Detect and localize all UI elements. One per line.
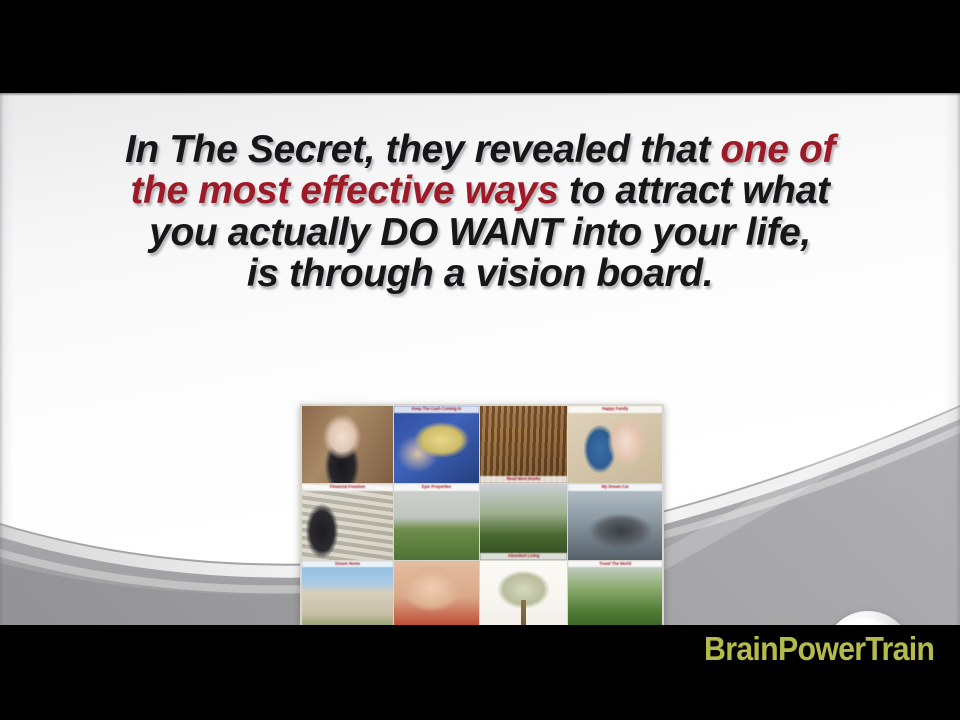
tile-dream-house: Dream Home xyxy=(302,561,393,626)
money-hand-artwork xyxy=(394,406,479,483)
video-stage[interactable]: In The Secret, they revealed that one of… xyxy=(0,93,960,625)
letterbox-top xyxy=(0,0,960,93)
headline-line-3: you actually DO WANT into your life, xyxy=(0,212,960,253)
headline-line-2: the most effective ways to attract what xyxy=(0,170,960,211)
car-artwork xyxy=(568,484,662,560)
house-artwork xyxy=(302,561,393,626)
tile-green-landscape: Abundant Living xyxy=(480,484,567,560)
tile-luxury-car: My Dream Car xyxy=(568,484,662,560)
tile-public-speaker xyxy=(302,406,393,483)
tile-caption: Abundant Living xyxy=(480,553,567,560)
tile-caption: Epic Properties xyxy=(394,484,479,491)
tile-crowd-with-cash: Financial Freedom xyxy=(302,484,393,560)
headline-line-1-highlight: one of xyxy=(720,128,835,171)
headline-text: In The Secret, they revealed that one of… xyxy=(0,129,960,294)
tile-caption: Read More Books xyxy=(480,476,567,483)
money-tree-artwork xyxy=(480,561,567,626)
tile-caption: Travel The World xyxy=(568,561,662,568)
brand-logo: BrainPowerTrain xyxy=(704,630,934,668)
tile-caption: Keep The Cash Coming In xyxy=(394,406,479,413)
skin-artwork xyxy=(394,561,479,626)
tile-caption: Happy Family xyxy=(568,406,662,413)
tile-healthy-body: Healthy Body xyxy=(394,561,479,626)
tile-library-books: Read More Books xyxy=(480,406,567,483)
tile-money-tree: Money Grows xyxy=(480,561,567,626)
speaker-artwork xyxy=(302,406,393,483)
tile-stone-castle: Epic Properties xyxy=(394,484,479,560)
crowd-money-artwork xyxy=(302,484,393,560)
tile-caption: Financial Freedom xyxy=(302,484,393,491)
tile-caption: Dream Home xyxy=(302,561,393,568)
tile-caption: My Dream Car xyxy=(568,484,662,491)
castle-artwork xyxy=(394,484,479,560)
green-field-artwork xyxy=(568,561,662,626)
tile-green-field: Travel The World xyxy=(568,561,662,626)
books-artwork xyxy=(480,406,567,483)
couple-artwork xyxy=(568,406,662,483)
headline-line-1: In The Secret, they revealed that one of xyxy=(0,129,960,170)
tile-happy-couple: Happy Family xyxy=(568,406,662,483)
video-frame: In The Secret, they revealed that one of… xyxy=(0,0,960,720)
play-button-gloss xyxy=(836,618,891,625)
headline-line-2-plain: to attract what xyxy=(558,169,829,212)
headline-line-2-highlight: the most effective ways xyxy=(131,169,559,212)
headline-line-1-plain: In The Secret, they revealed that xyxy=(125,128,720,171)
vision-board-collage: Keep The Cash Coming InRead More BooksHa… xyxy=(300,404,664,625)
headline-line-4: is through a vision board. xyxy=(0,253,960,294)
tile-money-handful: Keep The Cash Coming In xyxy=(394,406,479,483)
landscape-artwork xyxy=(480,484,567,560)
